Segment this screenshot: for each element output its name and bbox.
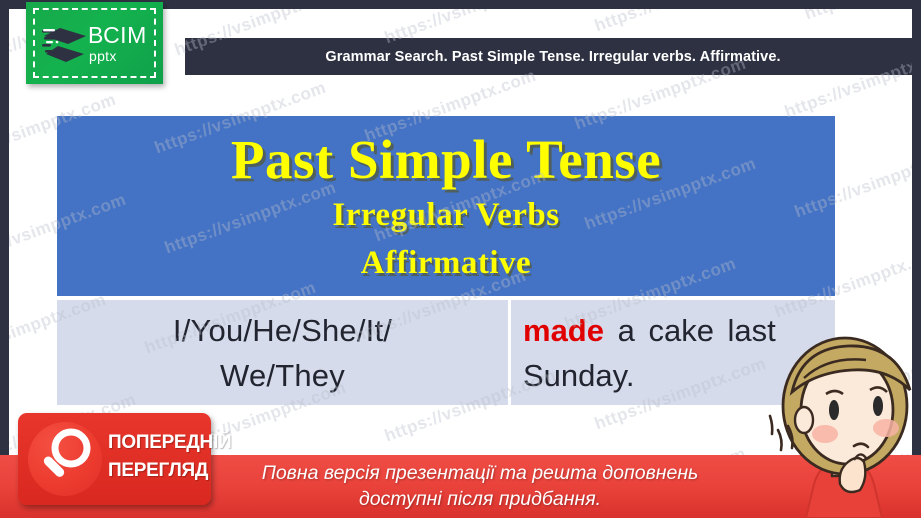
thinking-girl-illustration bbox=[762, 334, 921, 518]
purchase-notice-line-2: доступні після придбання. bbox=[359, 488, 601, 510]
example-table: I/You/He/She/It/ We/They made a cake las… bbox=[57, 300, 835, 405]
title-sub-2: Affirmative bbox=[57, 240, 835, 286]
magnifier-icon bbox=[28, 422, 102, 496]
preview-badge-line-1: ПОПЕРЕДНІЙ bbox=[108, 429, 208, 457]
irregular-verb: made bbox=[523, 313, 604, 348]
title-banner: Past Simple Tense Irregular Verbs Affirm… bbox=[57, 116, 835, 296]
title-sub-1: Irregular Verbs bbox=[57, 192, 835, 238]
table-cell-subject: I/You/He/She/It/ We/They bbox=[57, 300, 508, 405]
title-main: Past Simple Tense bbox=[57, 130, 835, 190]
header-bar: Grammar Search. Past Simple Tense. Irreg… bbox=[185, 38, 921, 75]
preview-badge-line-2: ПЕРЕГЛЯД bbox=[108, 457, 208, 485]
logo-brand: ВСІМ bbox=[88, 24, 147, 47]
purchase-notice-line-1: Повна версія презентації та решта доповн… bbox=[262, 462, 699, 484]
slide-canvas: Past Simple Tense Irregular Verbs Affirm… bbox=[0, 0, 921, 518]
frame-left-border bbox=[0, 0, 9, 518]
graduation-cap-icon bbox=[42, 24, 88, 64]
subject-text: I/You/He/She/It/ We/They bbox=[173, 308, 392, 398]
purchase-notice-text: Повна версія презентації та решта доповн… bbox=[200, 460, 760, 512]
logo-subtext: pptx bbox=[89, 48, 117, 64]
preview-badge[interactable]: ПОПЕРЕДНІЙ ПЕРЕГЛЯД bbox=[18, 413, 211, 505]
preview-badge-text: ПОПЕРЕДНІЙ ПЕРЕГЛЯД bbox=[108, 429, 208, 485]
page-title: Grammar Search. Past Simple Tense. Irreg… bbox=[325, 49, 780, 65]
site-logo[interactable]: ВСІМ pptx bbox=[26, 2, 163, 84]
subject-line-1: I/You/He/She/It/ bbox=[173, 313, 392, 348]
subject-line-2: We/They bbox=[220, 358, 345, 393]
